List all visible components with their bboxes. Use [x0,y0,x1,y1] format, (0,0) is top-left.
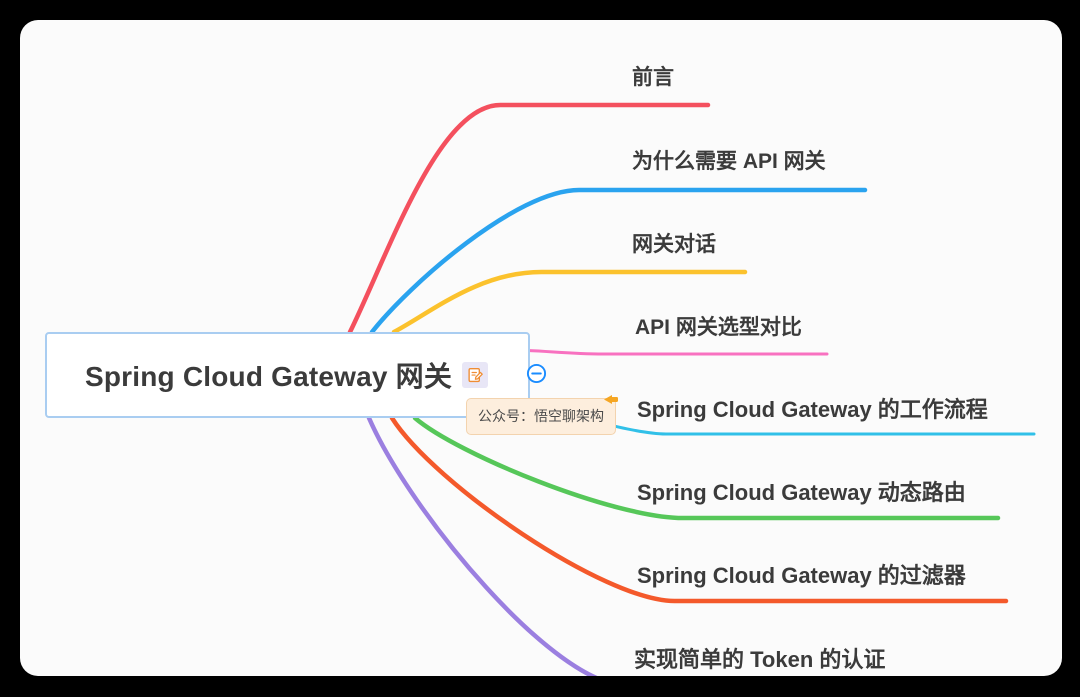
mindmap-stage: Spring Cloud Gateway 网关 公众号：悟空聊架构 [0,0,1080,697]
topic-node-8[interactable]: 实现简单的 Token 的认证 [634,648,885,672]
branch-connector [508,350,827,354]
topic-node-7[interactable]: Spring Cloud Gateway 的过滤器 [637,564,966,588]
topic-node-2[interactable]: 为什么需要 API 网关 [632,150,826,173]
topic-node-3[interactable]: 网关对话 [632,233,716,256]
topic-node-5[interactable]: Spring Cloud Gateway 的工作流程 [637,398,988,422]
branch-connector [372,190,865,332]
note-tooltip-text: 公众号：悟空聊架构 [478,408,604,424]
collapse-toggle-button[interactable] [525,362,547,384]
root-node[interactable]: Spring Cloud Gateway 网关 [45,332,530,418]
pin-icon [601,391,621,407]
note-tooltip[interactable]: 公众号：悟空聊架构 [466,398,616,435]
topic-node-4[interactable]: API 网关选型对比 [635,316,802,339]
topic-node-1[interactable]: 前言 [632,66,674,89]
branch-connector [369,418,925,676]
root-node-label: Spring Cloud Gateway 网关 [85,355,452,395]
topic-node-6[interactable]: Spring Cloud Gateway 动态路由 [637,481,966,505]
note-edit-icon[interactable] [462,362,488,388]
mindmap-canvas[interactable]: Spring Cloud Gateway 网关 公众号：悟空聊架构 [20,20,1062,676]
